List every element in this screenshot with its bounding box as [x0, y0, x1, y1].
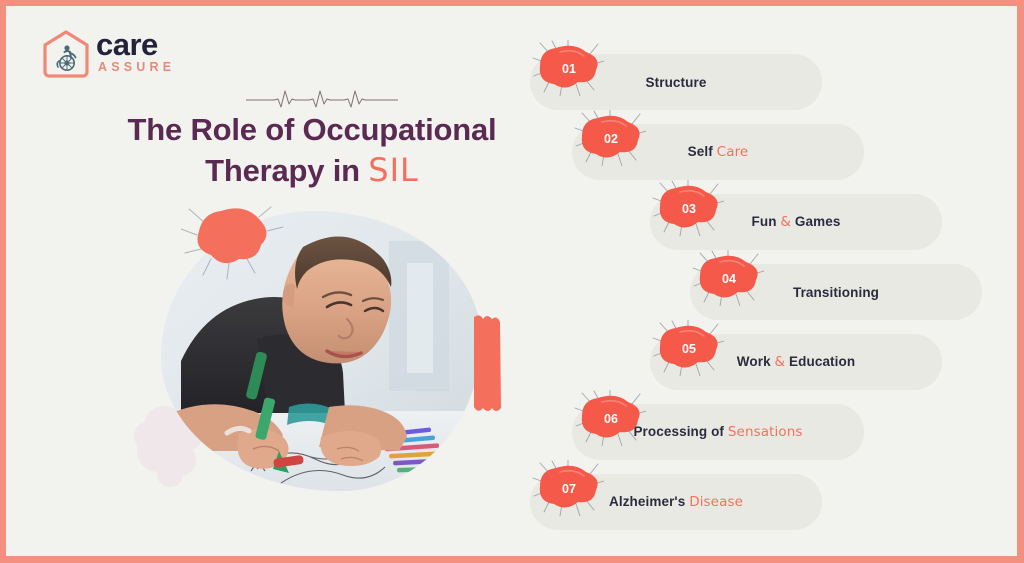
poster-canvas: care ASSURE The Role of Occupational The…: [6, 6, 1017, 556]
topic-label: Transitioning: [793, 285, 879, 300]
topic-label: Alzheimer's Disease: [609, 494, 743, 510]
number-badge: 04: [692, 250, 764, 306]
topic-list: Structure 01: [6, 6, 1017, 556]
topic-label: Processing of Sensations: [633, 424, 802, 440]
number-badge: 05: [652, 320, 724, 376]
topic-label: Structure: [646, 75, 707, 90]
list-item[interactable]: Work & Education 05: [650, 334, 942, 390]
poster-frame: care ASSURE The Role of Occupational The…: [0, 0, 1024, 563]
number-badge: 06: [574, 390, 646, 446]
number-badge: 02: [574, 110, 646, 166]
list-item[interactable]: Structure 01: [530, 54, 822, 110]
topic-label: Self Care: [688, 144, 749, 160]
list-item[interactable]: Alzheimer's Disease 07: [530, 474, 822, 530]
list-item[interactable]: Fun & Games 03: [650, 194, 942, 250]
number-badge: 07: [532, 460, 604, 516]
number-badge: 01: [532, 40, 604, 96]
list-item[interactable]: Self Care 02: [572, 124, 864, 180]
list-item[interactable]: Transitioning 04: [690, 264, 982, 320]
list-item[interactable]: Processing of Sensations 06: [572, 404, 864, 460]
number-badge: 03: [652, 180, 724, 236]
topic-label: Fun & Games: [752, 214, 841, 230]
topic-label: Work & Education: [737, 354, 855, 370]
